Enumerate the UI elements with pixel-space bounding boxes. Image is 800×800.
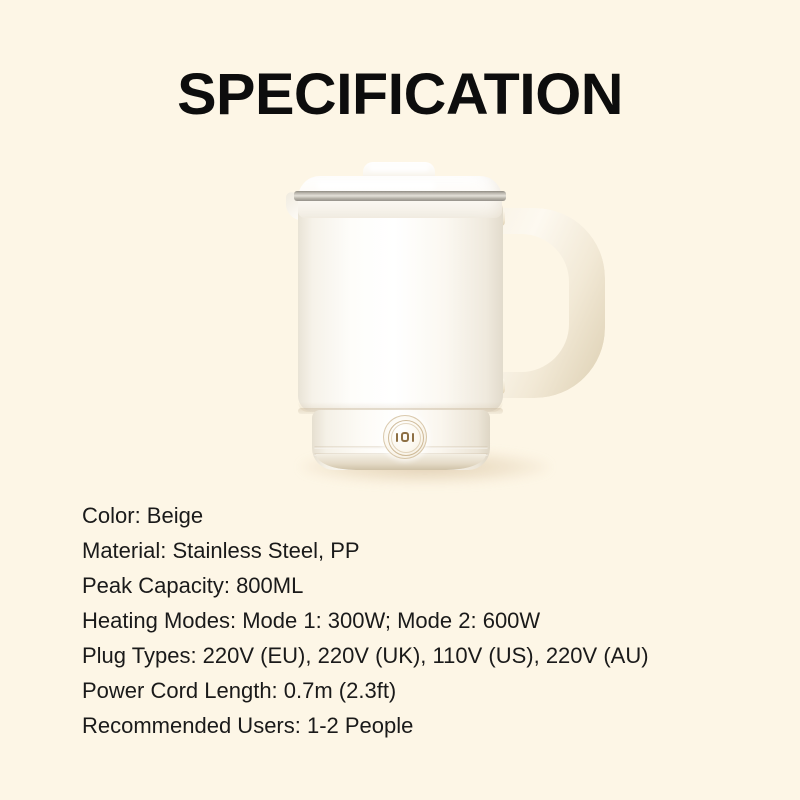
power-bar-right: [412, 433, 414, 442]
kettle-handle: [493, 208, 605, 398]
power-indicator-icon: [396, 432, 414, 442]
power-oval: [401, 432, 409, 442]
spec-row-plug-types: Plug Types: 220V (EU), 220V (UK), 110V (…: [82, 638, 722, 673]
spec-row-recommended-users: Recommended Users: 1-2 People: [82, 708, 722, 743]
specification-page: SPECIFICATION C: [0, 0, 800, 800]
page-title: SPECIFICATION: [0, 66, 800, 124]
power-button[interactable]: [383, 415, 427, 459]
spec-row-color: Color: Beige: [82, 498, 722, 533]
spec-row-peak-capacity: Peak Capacity: 800ML: [82, 568, 722, 603]
product-image: [250, 150, 630, 510]
spec-row-power-cord-length: Power Cord Length: 0.7m (2.3ft): [82, 673, 722, 708]
kettle-body: [298, 198, 503, 412]
power-bar-left: [396, 433, 398, 442]
spec-row-material: Material: Stainless Steel, PP: [82, 533, 722, 568]
stainless-steel-rim: [294, 191, 506, 201]
specification-list: Color: Beige Material: Stainless Steel, …: [82, 498, 722, 743]
spec-row-heating-modes: Heating Modes: Mode 1: 300W; Mode 2: 600…: [82, 603, 722, 638]
